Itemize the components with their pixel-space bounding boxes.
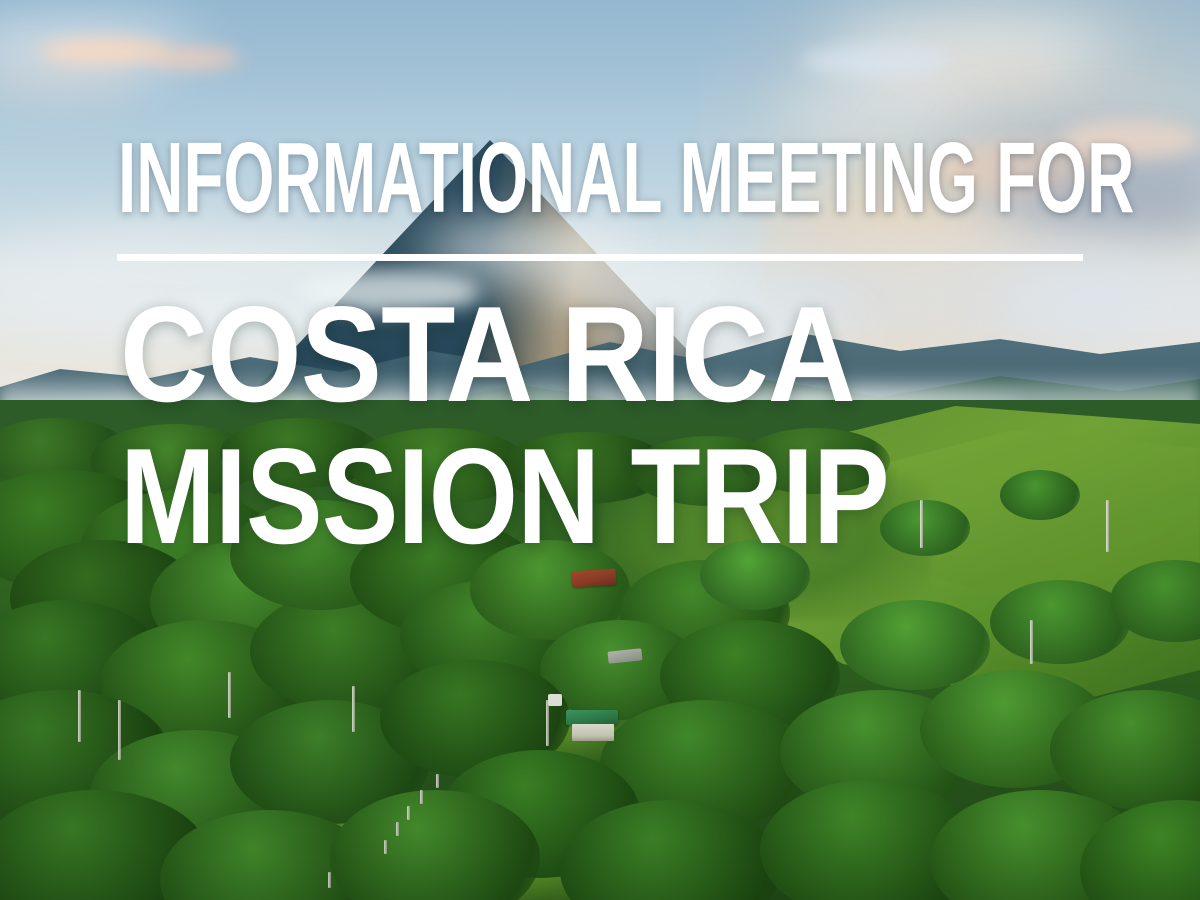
grass-clearing-house [480,690,650,770]
title-divider-rule [117,254,1083,261]
palm-trunk [78,690,81,742]
house-green-roof [566,710,618,725]
palm-trunk [118,700,121,760]
house-white-wall [572,724,614,741]
grass-clearing-foreground-left [0,850,320,900]
grass-clearing-foreground [260,800,690,900]
fence-post [328,872,331,888]
utility-pole [546,700,549,746]
fence-post [384,840,387,854]
poster-title-line-1: COSTA RICA [120,286,855,422]
poster-title-line-2: MISSION TRIP [120,428,889,564]
palm-trunk [228,672,231,718]
fence-post [420,790,423,804]
fence-post [407,806,410,820]
costa-rica-mission-trip-poster: INFORMATIONAL MEETING FOR COSTA RICA MIS… [0,0,1200,900]
palm-trunk [352,686,355,732]
poster-eyebrow-heading: INFORMATIONAL MEETING FOR [118,126,1084,230]
palm-trunk [920,500,923,548]
palm-trunk [1030,620,1033,664]
palm-trunk [1106,500,1109,552]
fence-post [396,822,399,836]
fence-post [436,774,439,788]
